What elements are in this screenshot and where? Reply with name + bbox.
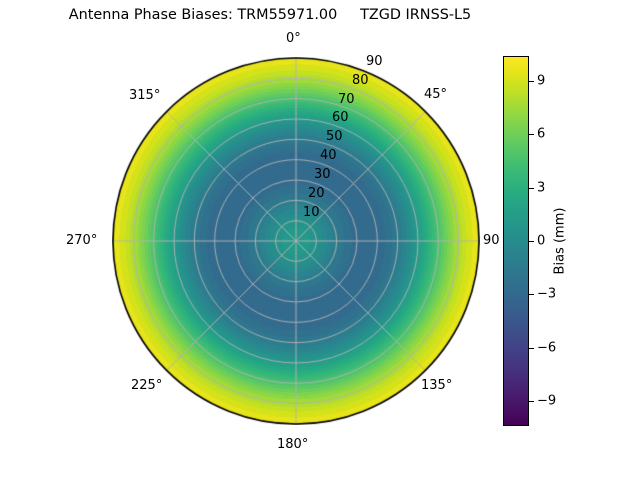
colorbar-tick-mark bbox=[529, 294, 534, 295]
theta-tick-225: 225° bbox=[131, 379, 162, 392]
colorbar-tick-label: −6 bbox=[537, 341, 556, 354]
theta-tick-90: 90 bbox=[483, 234, 500, 247]
theta-tick-45: 45° bbox=[424, 88, 447, 101]
polar-plot[interactable] bbox=[112, 57, 480, 425]
theta-tick-0: 0° bbox=[286, 32, 301, 45]
colorbar-tick-mark bbox=[529, 81, 534, 82]
colorbar-tick-label: 3 bbox=[537, 181, 545, 194]
r-tick-60: 60 bbox=[332, 111, 349, 124]
colorbar-tick-label: −3 bbox=[537, 288, 556, 301]
r-tick-40: 40 bbox=[320, 149, 337, 162]
theta-tick-180: 180° bbox=[277, 438, 308, 451]
r-tick-10: 10 bbox=[303, 206, 320, 219]
r-tick-30: 30 bbox=[314, 168, 331, 181]
colorbar-gradient bbox=[503, 56, 529, 426]
page-title: Antenna Phase Biases: TRM55971.00 TZGD I… bbox=[0, 7, 540, 23]
polar-contour-canvas bbox=[112, 57, 480, 425]
r-tick-90: 90 bbox=[366, 55, 383, 68]
theta-tick-270: 270° bbox=[66, 234, 97, 247]
colorbar-tick-mark bbox=[529, 134, 534, 135]
r-tick-80: 80 bbox=[352, 74, 369, 87]
colorbar-tick-mark bbox=[529, 348, 534, 349]
colorbar-tick-mark bbox=[529, 188, 534, 189]
theta-tick-135: 135° bbox=[421, 379, 452, 392]
figure-canvas: Antenna Phase Biases: TRM55971.00 TZGD I… bbox=[0, 0, 640, 480]
colorbar-tick-mark bbox=[529, 401, 534, 402]
colorbar-tick-label: −9 bbox=[537, 395, 556, 408]
colorbar-tick-mark bbox=[529, 241, 534, 242]
theta-tick-315: 315° bbox=[129, 89, 160, 102]
r-tick-20: 20 bbox=[308, 187, 325, 200]
colorbar-axis-label: Bias (mm) bbox=[553, 208, 568, 275]
colorbar-tick-label: 9 bbox=[537, 74, 545, 87]
colorbar[interactable]: 9630−3−6−9 bbox=[503, 56, 529, 426]
r-tick-50: 50 bbox=[326, 130, 343, 143]
r-tick-70: 70 bbox=[338, 93, 355, 106]
colorbar-tick-label: 6 bbox=[537, 128, 545, 141]
colorbar-tick-label: 0 bbox=[537, 235, 545, 248]
